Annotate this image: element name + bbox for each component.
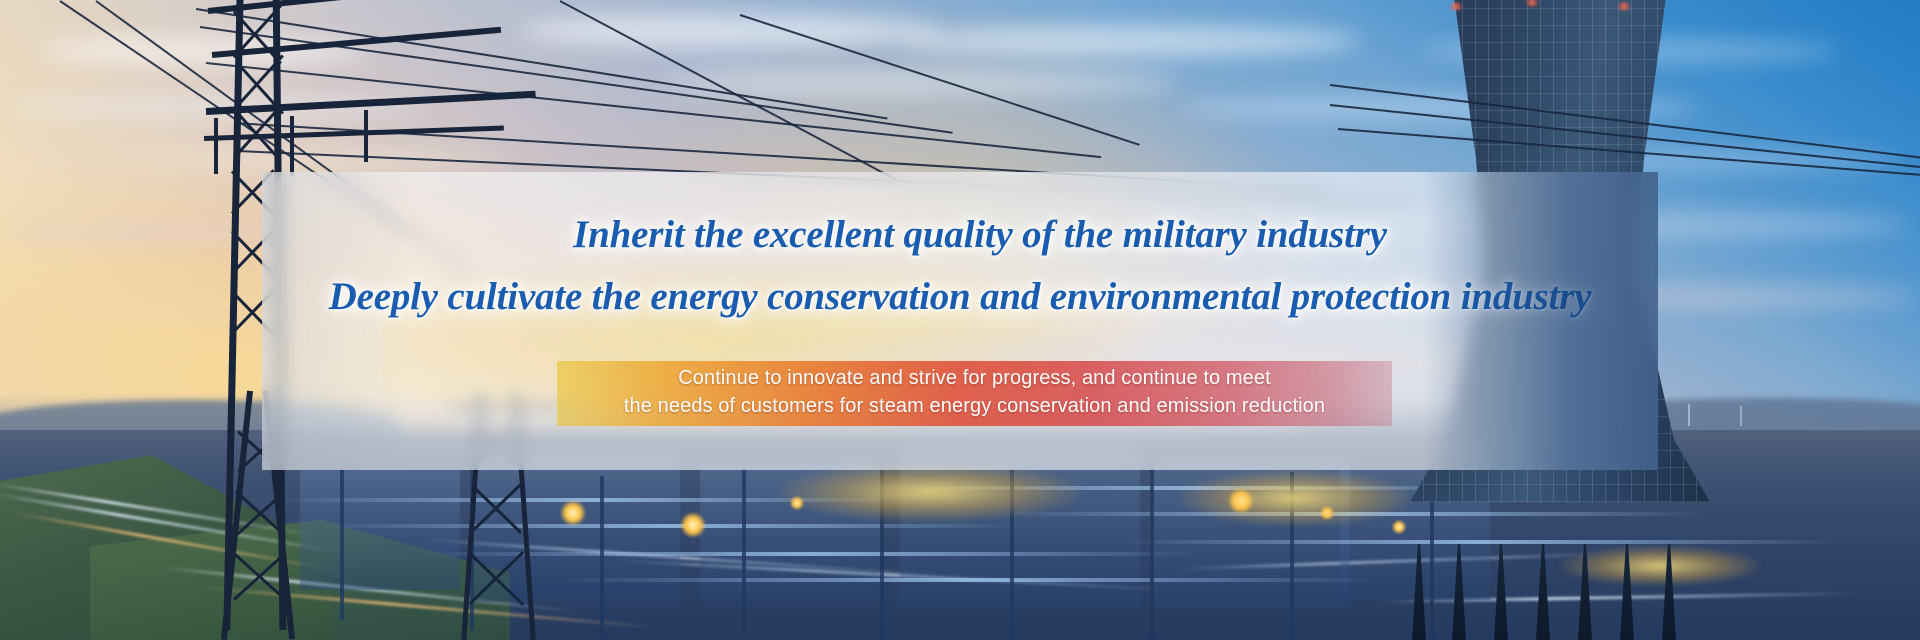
plant-lamp-cluster	[1180, 470, 1410, 526]
hero-banner: Inherit the excellent quality of the mil…	[0, 0, 1920, 640]
wind-turbine-icon	[1740, 406, 1742, 426]
pipe-support	[742, 466, 746, 638]
tower-crossarm	[208, 0, 447, 14]
tower-lattice	[233, 556, 283, 601]
text-overlay-panel: Inherit the excellent quality of the mil…	[262, 172, 1658, 470]
pipe-support	[1430, 486, 1434, 640]
headline-primary: Inherit the excellent quality of the mil…	[262, 212, 1658, 257]
cooling-tower-beacon	[1448, 2, 1464, 11]
cloud	[900, 26, 1360, 56]
pipe-run	[1120, 540, 1840, 544]
cooling-tower-beacon	[1616, 2, 1632, 11]
wind-turbine-icon	[1688, 404, 1690, 426]
plant-lamp	[680, 512, 706, 538]
subtitle-line-1: Continue to innovate and strive for prog…	[557, 364, 1392, 392]
tower-crossarm	[206, 91, 536, 115]
pipe-support	[1150, 462, 1154, 640]
tower-lattice	[235, 496, 280, 537]
pipe-run	[560, 578, 1380, 582]
plant-lamp-cluster	[1560, 546, 1760, 586]
tower-insulator	[214, 118, 218, 174]
subtitle-line-2: the needs of customers for steam energy …	[557, 392, 1392, 420]
plant-lamp-cluster	[780, 462, 1080, 522]
headline-secondary: Deeply cultivate the energy conservation…	[262, 274, 1658, 319]
tower-insulator	[364, 110, 368, 162]
subtitle-text: Continue to innovate and strive for prog…	[557, 364, 1392, 420]
